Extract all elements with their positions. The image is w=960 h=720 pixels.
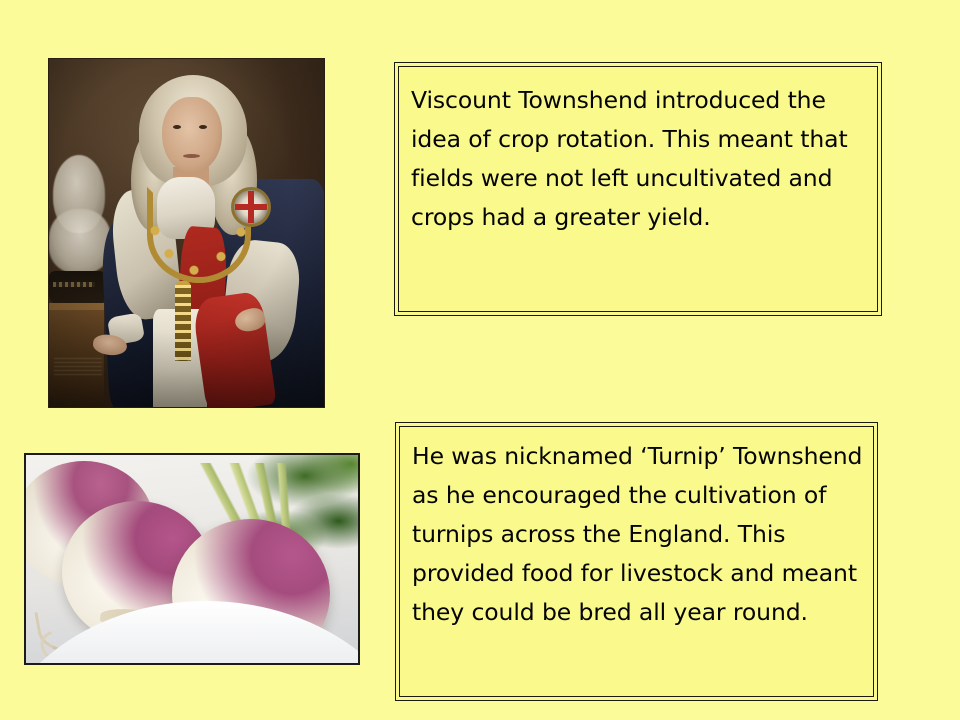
photograph-of-turnips[interactable] bbox=[24, 453, 360, 665]
textbox-crop-rotation-text: Viscount Townshend introduced the idea o… bbox=[395, 63, 881, 237]
portrait-vignette bbox=[49, 59, 324, 407]
textbox-crop-rotation[interactable]: Viscount Townshend introduced the idea o… bbox=[394, 62, 882, 316]
textbox-turnip-townshend[interactable]: He was nicknamed ‘Turnip’ Townshend as h… bbox=[395, 422, 878, 701]
textbox-turnip-townshend-text: He was nicknamed ‘Turnip’ Townshend as h… bbox=[396, 423, 877, 632]
portrait-of-viscount-townshend[interactable] bbox=[48, 58, 325, 408]
slide-canvas: Viscount Townshend introduced the idea o… bbox=[0, 0, 960, 720]
